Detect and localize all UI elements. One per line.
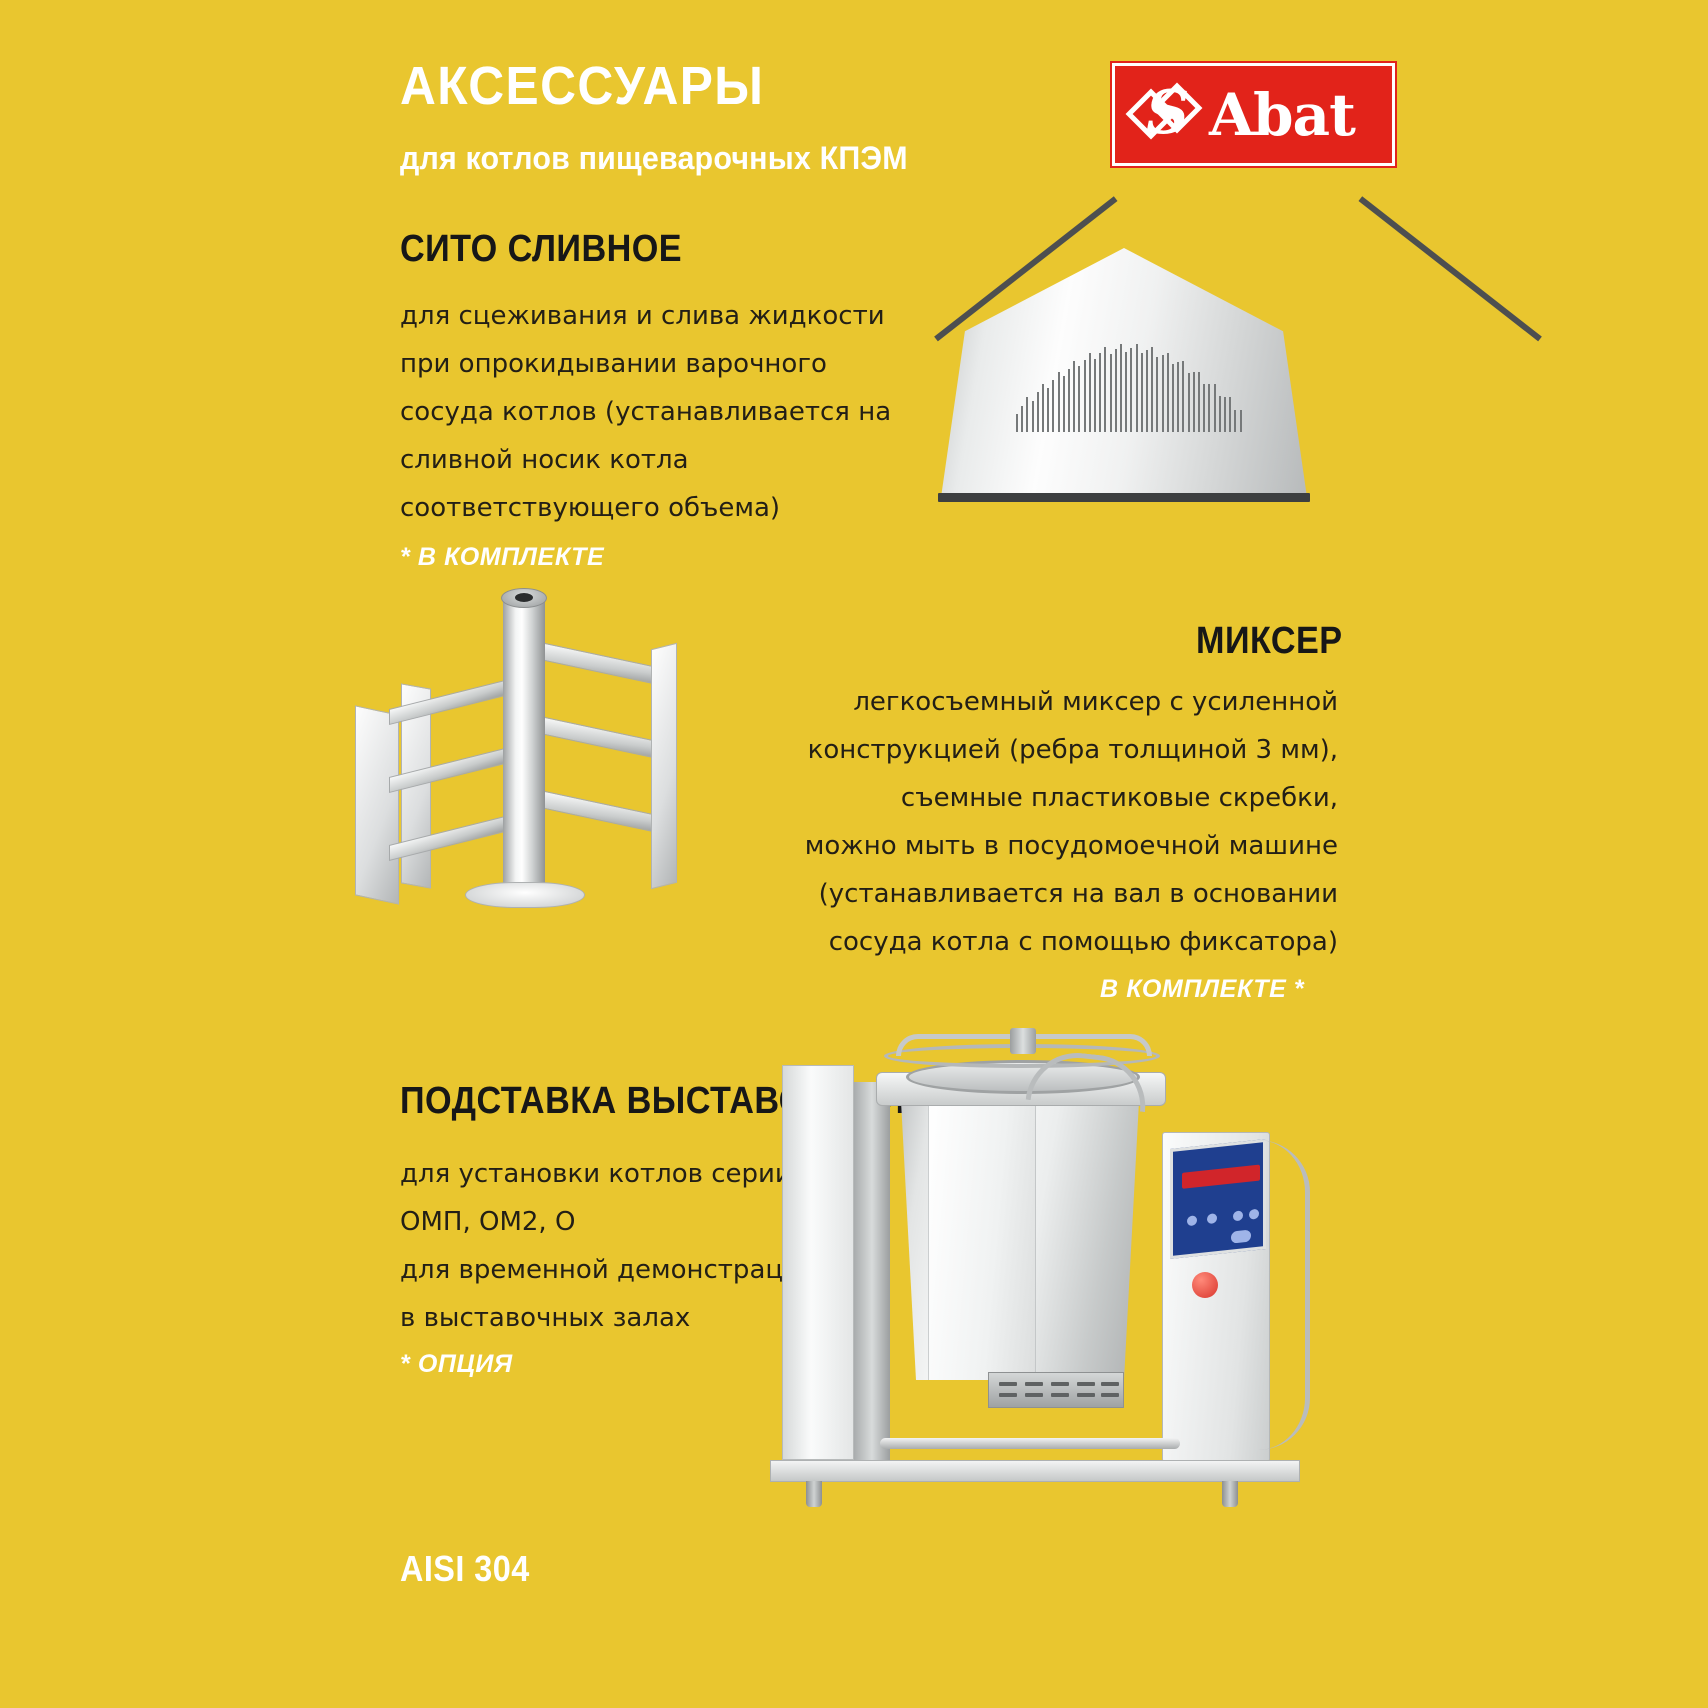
section-note-mikser: В КОМПЛЕКТЕ * [1100,975,1304,1004]
sieve-slot [1016,414,1018,432]
sieve-slot [1151,347,1153,432]
sieve-slot [1146,350,1148,432]
sieve-slot [1130,348,1132,432]
sieve-slot [1167,353,1169,432]
sieve-slots [1016,346,1246,432]
emergency-stop-button [1192,1272,1218,1298]
sieve-slot [1193,372,1195,432]
screen-red-bar [1182,1165,1260,1189]
section-body-podstavka: для установки котлов серии ОМП, ОМ2, О д… [400,1150,817,1342]
poster-canvas: АКСЕССУАРЫ для котлов пищеварочных КПЭМ … [0,0,1708,1708]
power-cable [1258,1140,1310,1450]
abat-logo-mark-icon: S [1133,82,1195,148]
sieve-base-rim [938,493,1310,502]
sieve-slot [1136,344,1138,432]
vent-slot [1051,1382,1069,1386]
sieve-slot [1125,352,1127,432]
sieve-slot [1172,364,1174,432]
sieve-slot [1188,373,1190,432]
vent-slot [999,1393,1017,1397]
kettle-vent-grille [988,1372,1124,1408]
sieve-slot [1208,384,1210,432]
vent-slot [1101,1393,1119,1397]
stand-base-plate [770,1460,1300,1482]
vent-slot [1025,1393,1043,1397]
stand-foot-right [1222,1481,1238,1507]
sieve-slot [1073,361,1075,432]
sieve-slot [1021,406,1023,433]
page-subtitle: для котлов пищеварочных КПЭМ [400,140,908,177]
sieve-slot [1224,397,1226,433]
page-title: АКСЕССУАРЫ [400,58,764,115]
sieve-slot [1214,384,1216,432]
sieve-slot [1234,410,1236,433]
drain-sieve-photo [930,248,1318,493]
screen-red-bar-2 [1173,1145,1235,1164]
mixer-shaft [503,596,545,896]
vent-slot [999,1382,1017,1386]
sieve-slot [1099,353,1101,432]
abat-wordmark: Abat [1209,86,1355,144]
sieve-slot [1198,372,1200,432]
mixer-shaft-hole-icon [515,593,533,602]
kettle-lid-hinge [1010,1028,1036,1054]
logo-s-letter: S [1146,84,1180,144]
abat-logo: S Abat [1112,63,1395,166]
section-note-podstavka: * ОПЦИЯ [400,1350,513,1379]
sieve-slot [1047,388,1049,432]
sieve-slot [1110,354,1112,432]
material-label: AISI 304 [400,1548,530,1590]
stand-foot-left [806,1481,822,1507]
sieve-slot [1068,369,1070,432]
vent-slot [1051,1393,1069,1397]
stand-cross-bar [880,1438,1180,1449]
sieve-slot [1229,397,1231,432]
sieve-slot [1089,353,1091,432]
sieve-slot [1115,349,1117,432]
sieve-slot [1141,353,1143,432]
sieve-slot [1078,366,1080,432]
vent-slot [1077,1382,1095,1386]
screen-button-dot [1187,1215,1197,1226]
sieve-slot [1032,401,1034,433]
sieve-slot [1177,362,1179,432]
vent-slot [1025,1382,1043,1386]
sieve-slot [1063,376,1065,432]
sieve-slot [1104,347,1106,432]
stand-center-column [854,1082,890,1460]
sieve-edge-right [1358,196,1541,341]
section-note-sito: * В КОМПЛЕКТЕ [400,543,604,572]
section-heading-mikser: МИКСЕР [1196,620,1343,663]
mixer-frame-right [651,643,677,889]
exhibition-stand-kettle-photo [760,1020,1320,1530]
mixer-base-disc [465,882,585,908]
screen-button-dot [1207,1213,1217,1224]
kettle-control-screen [1170,1139,1266,1259]
sieve-slot [1219,396,1221,432]
sieve-slot [1156,357,1158,432]
sieve-slot [1052,380,1054,432]
vent-slot [1101,1382,1119,1386]
section-heading-sito: СИТО СЛИВНОЕ [400,228,682,271]
screen-button-dot [1233,1210,1243,1221]
sieve-slot [1084,360,1086,432]
sieve-slot [1182,361,1184,432]
mixer-scraper-left [355,705,399,904]
mixer-photo [345,590,705,930]
sieve-slot [1094,359,1096,432]
screen-status-pill [1231,1230,1251,1244]
sieve-slot [1058,372,1060,432]
sieve-slot [1120,344,1122,432]
sieve-slot [1203,384,1205,432]
section-body-sito: для сцеживания и слива жидкости при опро… [400,292,891,532]
sieve-slot [1026,397,1028,432]
sieve-slot [1042,384,1044,432]
kettle-front-panel [928,1098,1036,1380]
vent-slot [1077,1393,1095,1397]
sieve-slot [1162,355,1164,432]
section-body-mikser: легкосъемный миксер с усиленной конструк… [760,678,1338,966]
stand-left-column [782,1065,854,1460]
sieve-slot [1240,410,1242,432]
sieve-slot [1037,392,1039,432]
